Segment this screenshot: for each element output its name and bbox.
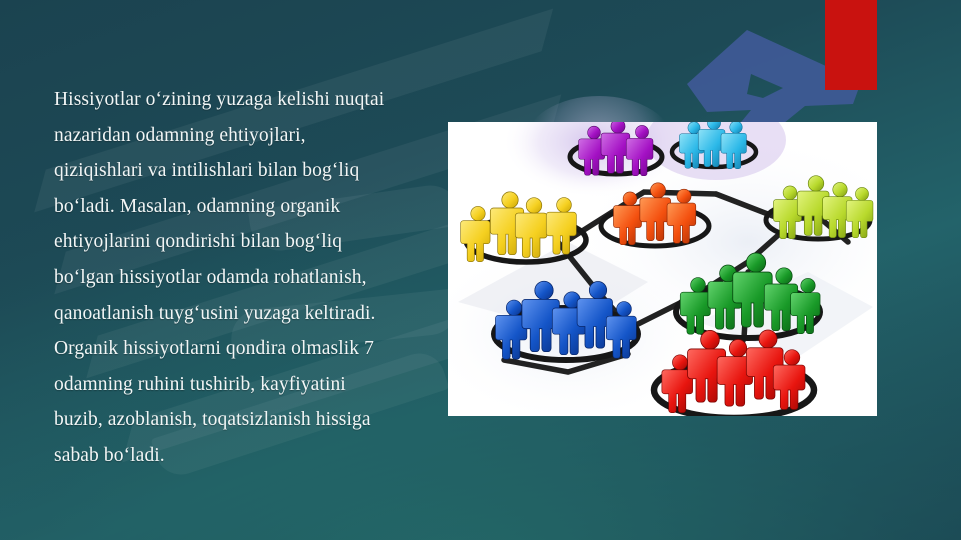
red-accent-bar bbox=[825, 0, 877, 90]
presentation-slide: Hissiyotlar o‘zining yuzaga kelishi nuqt… bbox=[0, 0, 961, 540]
blue-letter-a-watermark bbox=[655, 26, 870, 136]
slide-body-text: Hissiyotlar o‘zining yuzaga kelishi nuqt… bbox=[54, 82, 392, 474]
body-paragraph: Hissiyotlar o‘zining yuzaga kelishi nuqt… bbox=[54, 82, 392, 474]
network-people-image bbox=[448, 122, 877, 416]
network-people-illustration bbox=[448, 122, 877, 416]
